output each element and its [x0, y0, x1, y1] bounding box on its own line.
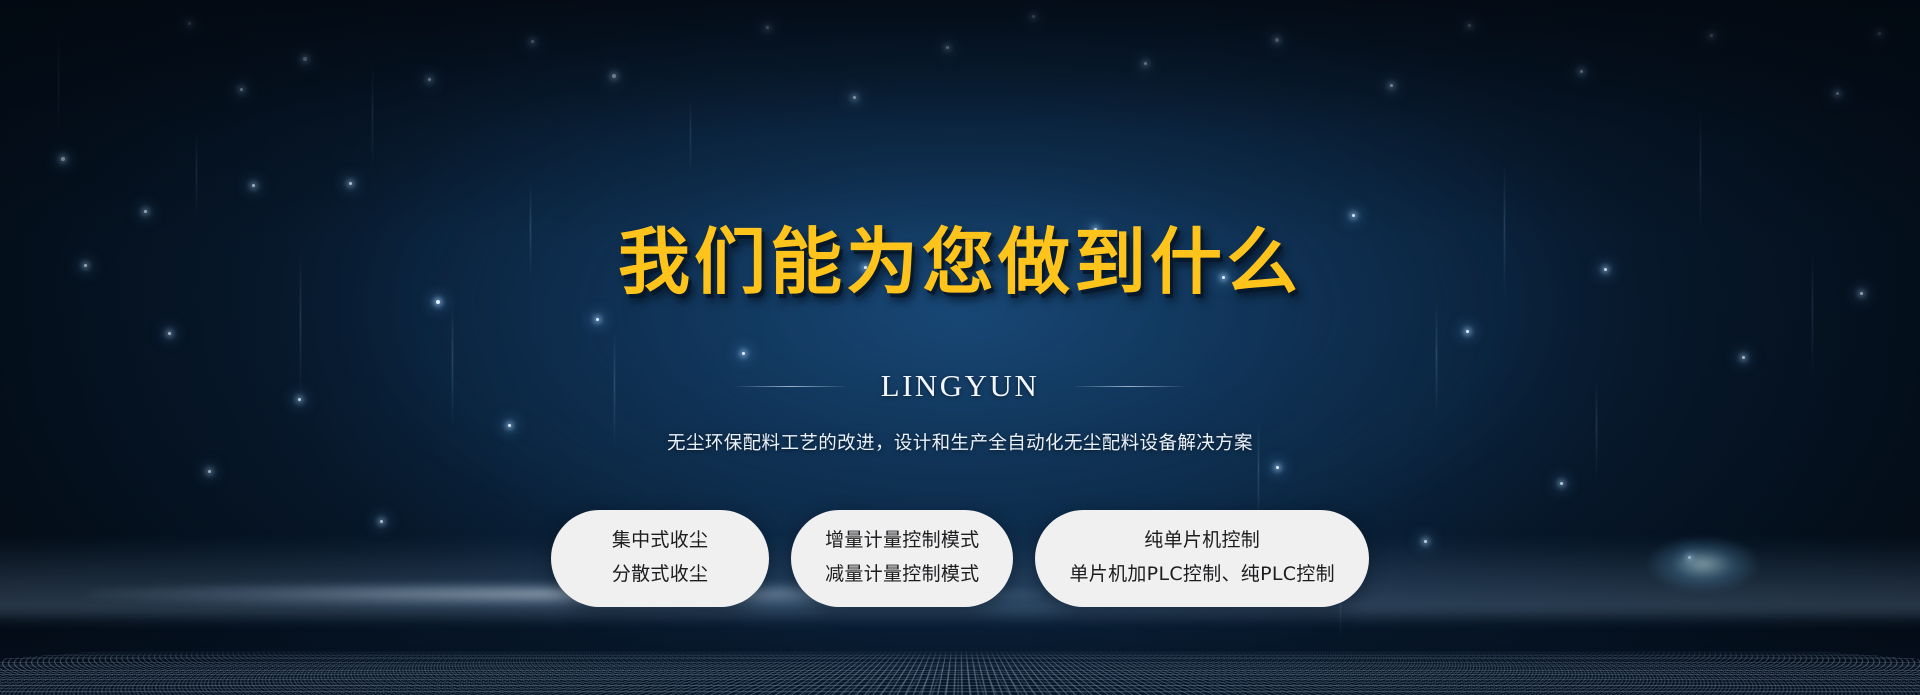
feature-card-line: 单片机加PLC控制、纯PLC控制	[1069, 565, 1334, 584]
subtitle-row: LINGYUN	[737, 368, 1184, 404]
hero-banner: 我们能为您做到什么 LINGYUN 无尘环保配料工艺的改进，设计和生产全自动化无…	[0, 0, 1920, 695]
feature-card-line: 分散式收尘	[585, 565, 735, 584]
feature-card[interactable]: 增量计量控制模式 减量计量控制模式	[791, 510, 1013, 607]
description-text: 无尘环保配料工艺的改进，设计和生产全自动化无尘配料设备解决方案	[667, 429, 1253, 455]
feature-card[interactable]: 纯单片机控制 单片机加PLC控制、纯PLC控制	[1035, 510, 1368, 607]
divider-line-left	[737, 386, 845, 387]
feature-card-line: 纯单片机控制	[1069, 531, 1334, 550]
brand-subtitle: LINGYUN	[881, 368, 1040, 404]
feature-card-line: 增量计量控制模式	[825, 531, 979, 550]
divider-line-right	[1075, 386, 1183, 387]
feature-card-list: 集中式收尘 分散式收尘 增量计量控制模式 减量计量控制模式 纯单片机控制 单片机…	[551, 510, 1369, 607]
banner-content: 我们能为您做到什么 LINGYUN 无尘环保配料工艺的改进，设计和生产全自动化无…	[0, 0, 1920, 695]
feature-card-line: 减量计量控制模式	[825, 565, 979, 584]
page-title: 我们能为您做到什么	[618, 226, 1302, 298]
feature-card[interactable]: 集中式收尘 分散式收尘	[551, 510, 769, 607]
feature-card-line: 集中式收尘	[585, 531, 735, 550]
